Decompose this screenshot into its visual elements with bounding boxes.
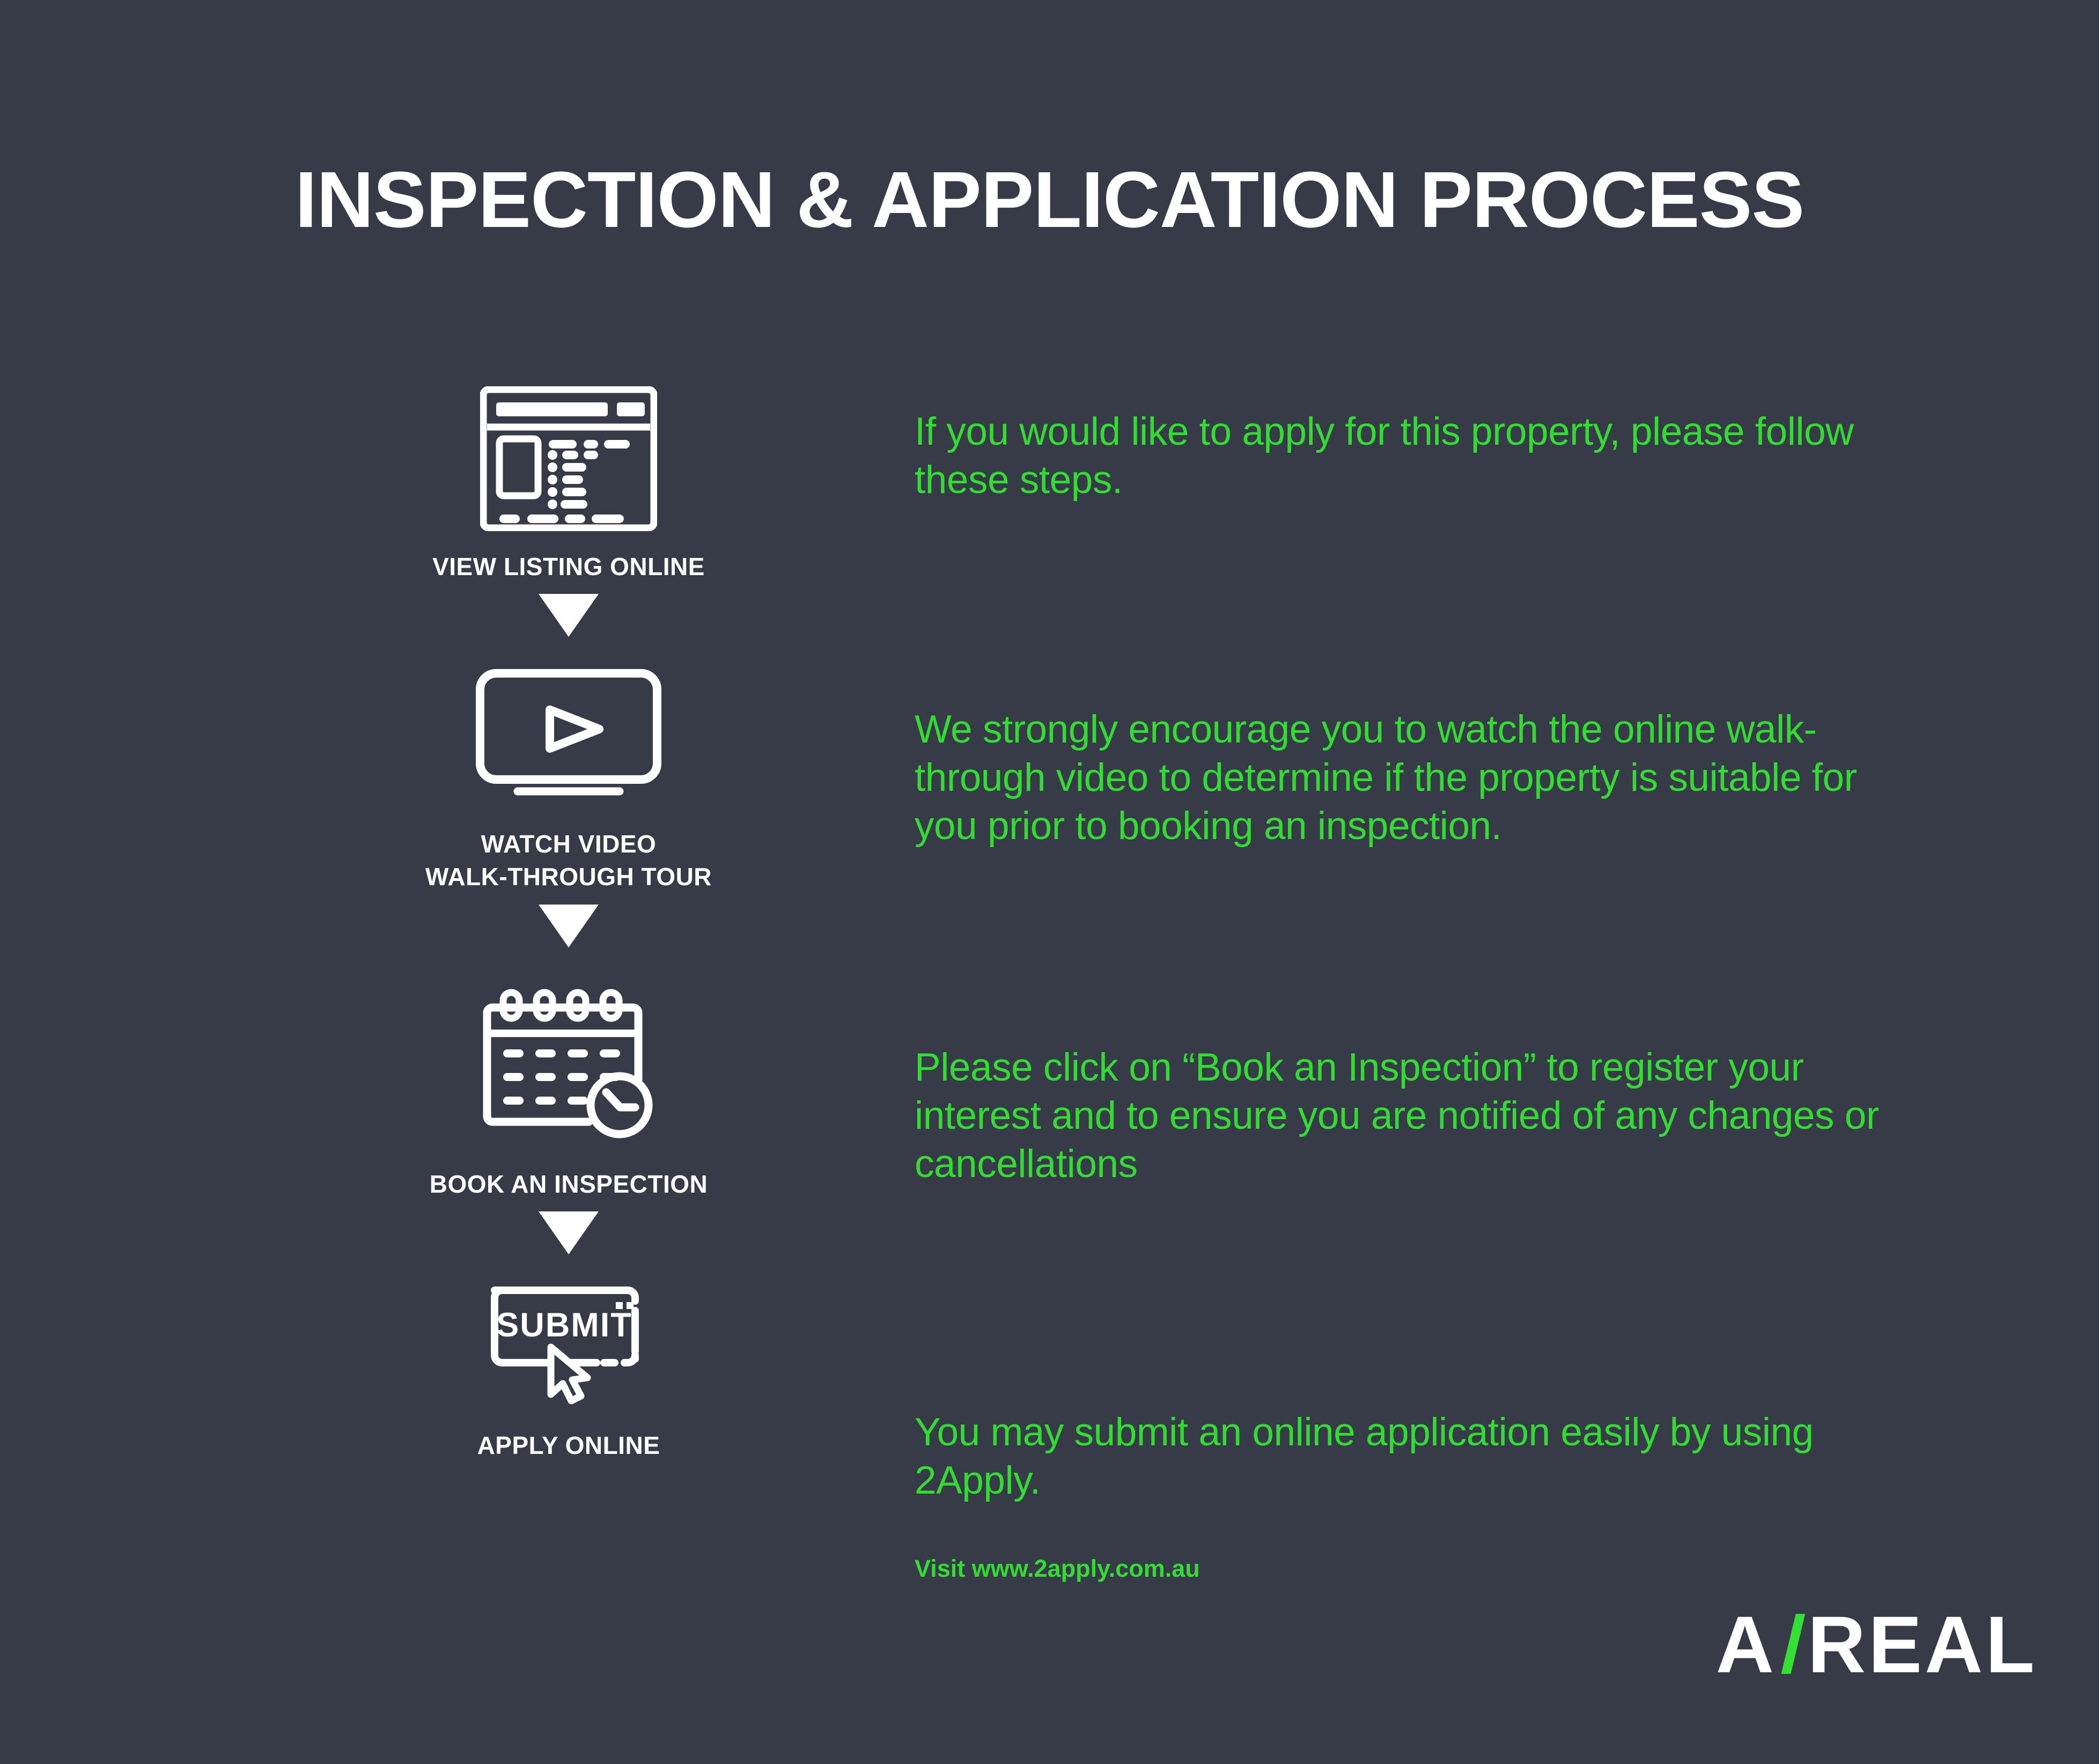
chevron-down-triangle-icon: [408, 1201, 730, 1265]
step-label-book-an-inspection: BOOK AN INSPECTION: [408, 1168, 730, 1201]
copy-block-2: We strongly encourage you to watch the o…: [915, 705, 1907, 850]
video-play-monitor-icon: [408, 648, 730, 825]
step-view-listing-online: VIEW LISTING ONLINE: [408, 370, 730, 583]
step-label-view-listing-online: VIEW LISTING ONLINE: [408, 550, 730, 583]
logo-word-real: REAL: [1808, 1604, 2037, 1685]
copy-block-1: If you would like to apply for this prop…: [915, 408, 1907, 504]
copy-block-3: Please click on “Book an Inspection” to …: [915, 1043, 1907, 1188]
step-apply-online: SUBMIT APPLY ONLINE: [408, 1265, 730, 1462]
submit-button-cursor-icon: SUBMIT: [408, 1265, 730, 1426]
logo-letter-a: A: [1716, 1604, 1777, 1685]
process-flow-column: VIEW LISTING ONLINE WATCH VIDEO WALK-THR…: [408, 370, 730, 1462]
infographic-poster: INSPECTION & APPLICATION PROCESS: [0, 0, 2099, 1764]
page-title: INSPECTION & APPLICATION PROCESS: [0, 155, 2099, 246]
chevron-down-triangle-icon: [408, 583, 730, 648]
copy-block-4: You may submit an online application eas…: [915, 1408, 1907, 1505]
logo-slash-icon: /: [1780, 1604, 1807, 1685]
step-watch-video: WATCH VIDEO WALK-THROUGH TOUR: [408, 648, 730, 893]
step-book-an-inspection: BOOK AN INSPECTION: [408, 958, 730, 1201]
submit-label: SUBMIT: [496, 1306, 632, 1344]
listing-window-icon: [408, 370, 730, 547]
copy-text-2: We strongly encourage you to watch the o…: [915, 705, 1907, 850]
step-label-apply-online: APPLY ONLINE: [408, 1429, 730, 1462]
brand-logo: A / REAL: [1716, 1604, 2037, 1685]
visit-url-line[interactable]: Visit www.2apply.com.au: [915, 1555, 1200, 1583]
chevron-down-triangle-icon: [408, 894, 730, 958]
copy-text-1: If you would like to apply for this prop…: [915, 408, 1907, 504]
step-label-watch-video: WATCH VIDEO WALK-THROUGH TOUR: [408, 828, 730, 893]
copy-text-3: Please click on “Book an Inspection” to …: [915, 1043, 1907, 1188]
calendar-clock-icon: [408, 958, 730, 1165]
copy-text-4: You may submit an online application eas…: [915, 1408, 1907, 1505]
